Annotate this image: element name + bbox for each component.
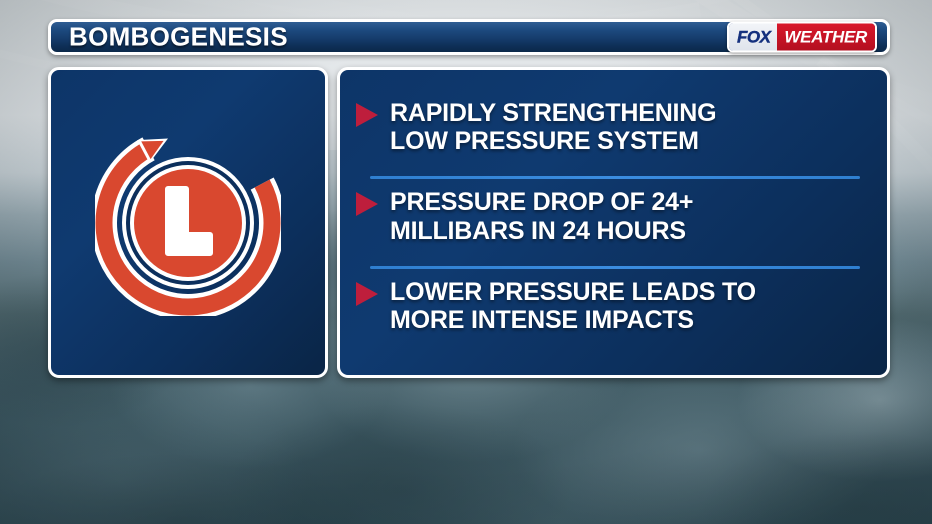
bullet-text: RAPIDLY STRENGTHENING LOW PRESSURE SYSTE… [390,99,716,156]
logo-fox-block: FOX [729,24,777,51]
icon-panel [48,67,328,378]
logo-weather-block: WEATHER [777,24,875,51]
facts-panel: RAPIDLY STRENGTHENING LOW PRESSURE SYSTE… [337,67,890,378]
title-bar: BOMBOGENESIS FOX WEATHER [48,19,890,55]
list-item: PRESSURE DROP OF 24+ MILLIBARS IN 24 HOU… [352,179,865,265]
list-item: RAPIDLY STRENGTHENING LOW PRESSURE SYSTE… [352,90,865,176]
list-item: LOWER PRESSURE LEADS TO MORE INTENSE IMP… [352,269,865,355]
bullet-text: PRESSURE DROP OF 24+ MILLIBARS IN 24 HOU… [390,188,693,245]
triangle-bullet-icon [356,192,378,216]
fox-weather-logo: FOX WEATHER [727,22,877,53]
logo-fox-text: FOX [737,29,770,46]
triangle-bullet-icon [356,103,378,127]
bullet-list: RAPIDLY STRENGTHENING LOW PRESSURE SYSTE… [340,70,887,375]
low-pressure-cyclone-icon [95,130,281,316]
triangle-bullet-icon [356,282,378,306]
logo-weather-text: WEATHER [784,29,867,46]
weather-graphic: BOMBOGENESIS FOX WEATHER [0,0,932,524]
page-title: BOMBOGENESIS [69,22,288,53]
bullet-text: LOWER PRESSURE LEADS TO MORE INTENSE IMP… [390,278,756,335]
